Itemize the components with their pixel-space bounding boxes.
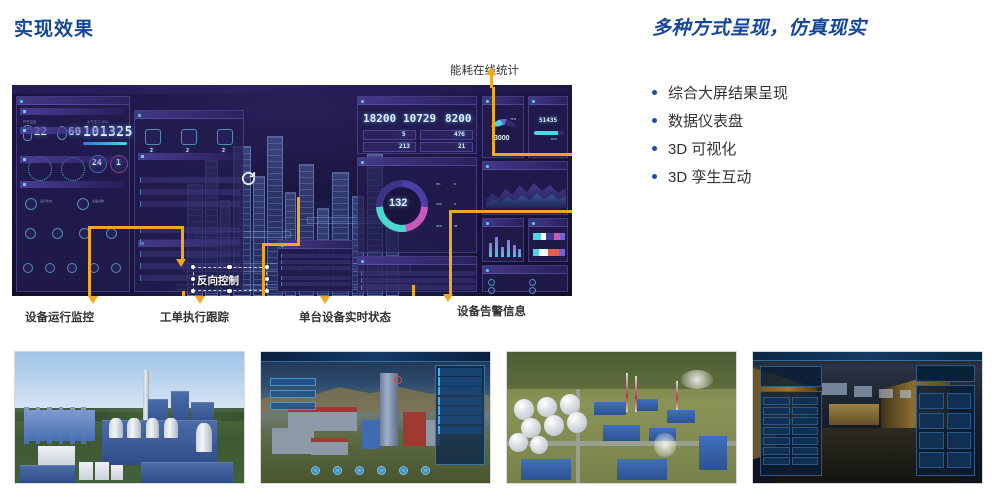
toolbar-icon[interactable] <box>333 466 342 475</box>
gauge-percent: 75% <box>510 117 516 121</box>
bullet-dot-icon <box>652 174 657 179</box>
stat-chip-1 <box>363 130 416 140</box>
panel-subheader <box>20 156 126 163</box>
bar-chart-plot <box>488 235 522 257</box>
connector-line <box>262 243 300 246</box>
list-item[interactable] <box>438 377 482 385</box>
list-item[interactable] <box>763 417 789 424</box>
stacked-bar-1 <box>533 233 565 240</box>
callout-label-workorder-tracking: 工单执行跟踪 <box>160 309 229 325</box>
list-item[interactable] <box>792 397 818 404</box>
grid-icon-2[interactable] <box>52 228 63 239</box>
bi-dashboard-screenshot: 环境温度 22 60 大气压力 (Pa) 101325 24 1 运行状态 设备… <box>12 85 572 296</box>
status-icon <box>25 198 37 210</box>
list-item-icon[interactable] <box>488 287 495 294</box>
arrow-up-icon <box>486 67 496 75</box>
callout-label-realtime-status: 单台设备实时状态 <box>299 309 391 325</box>
table-row[interactable] <box>140 251 240 257</box>
selection-handle[interactable] <box>227 265 232 270</box>
kpi-total-b: 10729 <box>403 112 436 125</box>
map-canvas[interactable] <box>920 368 971 380</box>
toolbar-icon[interactable] <box>355 466 364 475</box>
list-item[interactable] <box>792 427 818 434</box>
table-row[interactable] <box>140 201 240 207</box>
reverse-control-label: 反向控制 <box>197 273 239 288</box>
connector-line <box>492 153 572 156</box>
connector-line <box>297 197 300 246</box>
panel-device-alarm-table <box>357 256 477 292</box>
connector-line <box>88 226 91 266</box>
panel-header <box>529 97 567 105</box>
bullet-dot-icon <box>652 146 657 151</box>
list-item-label: 综合大屏结果呈现 <box>668 82 788 103</box>
kpi-energy-percent: 81% <box>551 137 557 141</box>
list-item[interactable] <box>763 437 789 444</box>
panel-header <box>358 257 476 265</box>
panel-header <box>135 111 243 119</box>
grid-icon-7[interactable] <box>67 263 77 273</box>
camera-tile[interactable] <box>919 452 943 468</box>
menu-item[interactable] <box>270 378 316 386</box>
list-item: 3D 可视化 <box>652 134 788 162</box>
list-item[interactable] <box>438 416 482 424</box>
toolbar-icon[interactable] <box>377 466 386 475</box>
panel-subheader <box>138 153 240 160</box>
alarm-marker-icon[interactable] <box>394 376 402 384</box>
refresh-icon[interactable] <box>240 170 257 192</box>
selection-handle[interactable] <box>191 277 196 282</box>
photo-aerial-refinery-render <box>506 351 737 484</box>
connector-line <box>88 264 91 296</box>
toolbar-icon[interactable] <box>399 466 408 475</box>
status-label: 设备总数 <box>92 199 104 203</box>
arrow-down-icon <box>320 296 330 304</box>
list-item[interactable] <box>438 387 482 395</box>
preheater-tower <box>380 373 398 446</box>
page-title-right: 多种方式呈现，仿真现实 <box>652 13 867 40</box>
kpi-total-a: 18200 <box>363 112 396 125</box>
panel-energy-gauge: 3000 75% <box>482 96 524 158</box>
gauge-value: 3000 <box>494 135 510 142</box>
status-icon <box>77 198 89 210</box>
list-item[interactable] <box>763 457 789 464</box>
kpi-stat-2: 476 <box>454 131 465 138</box>
panel-device-type-distribution: 132 5% 6 10% 9 25% 36 <box>357 157 477 253</box>
list-item-icon[interactable] <box>529 279 536 286</box>
camera-grid-panel <box>916 385 976 477</box>
dashboard-title-bar <box>12 85 572 94</box>
list-item[interactable] <box>792 437 818 444</box>
connector-line <box>449 210 572 213</box>
list-item: 综合大屏结果呈现 <box>652 78 788 106</box>
energy-progress-bar <box>534 131 564 135</box>
panel-header <box>483 219 523 227</box>
list-item[interactable] <box>438 426 482 434</box>
photo-3d-plant-render <box>14 351 245 484</box>
status-panel-top-left <box>760 366 822 387</box>
camera-tile[interactable] <box>947 452 971 468</box>
panel-energy-trend-chart: 10:00 11:00 12:00 13:00 <box>482 161 568 215</box>
kpi-energy-value: 51435 <box>539 117 557 124</box>
floating-detail-popup <box>277 240 353 292</box>
list-item-label: 3D 可视化 <box>668 138 736 159</box>
donut-legend-percent-1: 5% <box>436 182 440 186</box>
table-row[interactable] <box>140 177 240 183</box>
table-row <box>281 260 351 264</box>
list-item[interactable] <box>792 407 818 414</box>
list-item-label: 3D 孪生互动 <box>668 166 751 187</box>
camera-tile[interactable] <box>947 413 971 429</box>
app-header-bar <box>261 352 490 362</box>
pressure-bar <box>83 142 127 145</box>
stacked-bar-2 <box>533 249 565 256</box>
panel-subheader <box>20 181 126 188</box>
connector-line <box>449 210 452 296</box>
list-item[interactable] <box>438 368 482 376</box>
steam-plume <box>654 433 677 457</box>
callout-label-device-monitoring: 设备运行监控 <box>25 309 94 325</box>
selection-handle[interactable] <box>227 289 232 294</box>
photo-indoor-3d-monitoring-scene <box>752 351 983 484</box>
list-item[interactable] <box>763 447 789 454</box>
table-row[interactable] <box>140 239 240 245</box>
donut-legend-value-1: 6 <box>454 182 456 186</box>
panel-left-device-monitoring: 环境温度 22 60 大气压力 (Pa) 101325 24 1 运行状态 设备… <box>16 96 130 292</box>
grid-icon-1[interactable] <box>25 228 36 239</box>
list-item[interactable] <box>792 447 818 454</box>
camera-tile[interactable] <box>919 413 943 429</box>
toolbar-icon[interactable] <box>421 466 430 475</box>
list-item-icon[interactable] <box>529 287 536 294</box>
donut-legend-value-2: 9 <box>454 202 456 206</box>
panel-stacked-bars <box>528 218 568 262</box>
panel-header <box>483 162 567 170</box>
menu-item[interactable] <box>270 390 316 398</box>
kpi-label: 大气压力 (Pa) <box>87 119 108 124</box>
kpi-label: 环境温度 <box>23 119 37 124</box>
list-item[interactable] <box>763 397 789 404</box>
photo-3d-digital-twin-cement-plant <box>260 351 491 484</box>
grid-icon-9[interactable] <box>111 263 121 273</box>
selection-handle[interactable] <box>265 277 270 282</box>
kpi-stat-4: 21 <box>458 143 465 150</box>
list-item: 数据仪表盘 <box>652 106 788 134</box>
donut-legend-value-3: 36 <box>454 224 457 228</box>
left-menu-panel[interactable] <box>270 378 316 407</box>
connector-line-top <box>490 74 493 88</box>
table-row <box>281 276 351 280</box>
donut-legend-percent-3: 25% <box>436 224 442 228</box>
list-item-label: 数据仪表盘 <box>668 110 743 131</box>
selection-handle[interactable] <box>265 265 270 270</box>
callout-label-alarm-info: 设备告警信息 <box>457 303 526 319</box>
camera-tile[interactable] <box>947 432 971 448</box>
camera-tile[interactable] <box>919 393 943 409</box>
panel-subheader <box>20 108 126 115</box>
workorder-card-icon-1[interactable] <box>145 129 161 145</box>
selection-handle[interactable] <box>191 265 196 270</box>
panel-production-totals: 18200 10729 8200 5 476 213 21 <box>357 96 477 154</box>
list-item[interactable] <box>438 406 482 414</box>
bottom-toolbar[interactable] <box>311 462 430 479</box>
donut-legend-percent-2: 10% <box>436 202 442 206</box>
panel-header <box>358 97 476 105</box>
panel-header <box>358 158 476 166</box>
bullet-dot-icon <box>652 118 657 123</box>
toolbar-icon[interactable] <box>311 466 320 475</box>
panel-bar-chart <box>482 218 524 262</box>
camera-tile[interactable] <box>919 432 943 448</box>
table-row[interactable] <box>361 278 475 283</box>
panel-header <box>483 266 567 274</box>
workorder-card-icon-3[interactable] <box>217 129 233 145</box>
map-panel <box>916 365 976 382</box>
connector-line <box>412 285 415 296</box>
event-list-panel <box>760 391 822 476</box>
smoke-plume <box>681 370 713 388</box>
bullet-dot-icon <box>652 90 657 95</box>
table-row[interactable] <box>361 285 475 290</box>
table-row[interactable] <box>361 271 475 276</box>
connector-line <box>492 87 495 155</box>
equipment-row <box>829 404 879 425</box>
panel-header <box>483 97 523 105</box>
grid-icon-4[interactable] <box>106 228 117 239</box>
camera-tile[interactable] <box>947 393 971 409</box>
arrow-down-icon <box>176 259 186 267</box>
selection-handle[interactable] <box>265 289 270 294</box>
right-info-panel <box>435 365 485 465</box>
page-title-left: 实现效果 <box>14 14 94 41</box>
feature-bullet-list: 综合大屏结果呈现 数据仪表盘 3D 可视化 3D 孪生互动 <box>652 78 788 190</box>
status-label: 运行状态 <box>40 199 52 203</box>
arrow-down-icon <box>443 294 453 302</box>
grid-icon-5[interactable] <box>23 263 33 273</box>
stat-chip-2 <box>420 130 473 140</box>
panel-header <box>529 219 567 227</box>
list-item[interactable] <box>763 427 789 434</box>
donut-center-value: 132 <box>389 197 407 209</box>
menu-item[interactable] <box>270 402 316 410</box>
list-item[interactable] <box>792 417 818 424</box>
connector-line <box>181 226 184 261</box>
table-row <box>281 282 351 286</box>
table-row <box>281 254 351 258</box>
connector-line <box>88 226 184 229</box>
list-item: 3D 孪生互动 <box>652 162 788 190</box>
kpi-stat-1: 5 <box>402 131 406 138</box>
panel-device-status-list <box>482 265 568 292</box>
list-item-icon[interactable] <box>488 279 495 286</box>
table-row[interactable] <box>140 189 240 195</box>
app-header-bar <box>753 352 982 361</box>
list-item[interactable] <box>763 407 789 414</box>
callout-label-energy: 能耗在线统计 <box>450 62 519 78</box>
arrow-down-icon <box>195 296 205 304</box>
arrow-down-icon <box>88 296 98 304</box>
connector-line <box>182 291 185 296</box>
kpi-stat-3: 213 <box>399 143 410 150</box>
slide-page: 实现效果 多种方式呈现，仿真现实 综合大屏结果呈现 数据仪表盘 3D 可视化 3… <box>0 0 1000 498</box>
selection-handle[interactable] <box>191 289 196 294</box>
grid-icon-6[interactable] <box>45 263 55 273</box>
list-item[interactable] <box>792 457 818 464</box>
panel-subheader <box>20 127 126 134</box>
workorder-card-icon-2[interactable] <box>181 129 197 145</box>
panel-energy-progress: 51435 81% <box>528 96 568 158</box>
table-row <box>281 266 351 270</box>
kpi-total-c: 8200 <box>445 112 472 125</box>
list-item[interactable] <box>438 397 482 405</box>
panel-header <box>17 97 129 105</box>
